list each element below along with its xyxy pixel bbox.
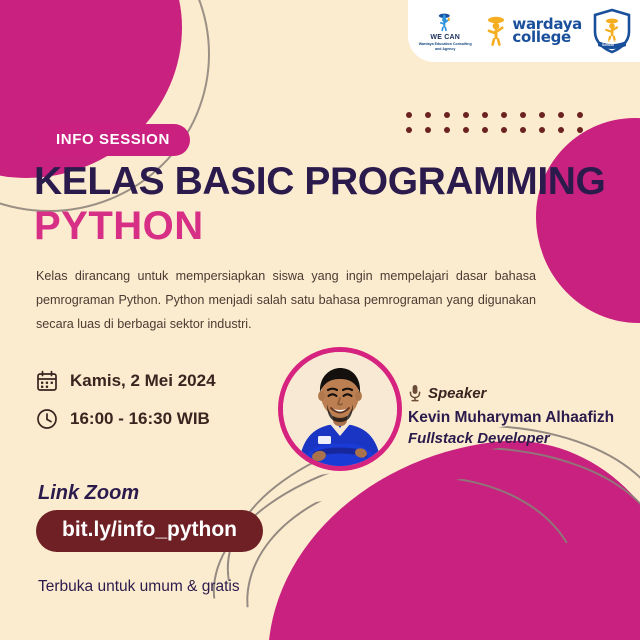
decorative-blob-right (536, 118, 640, 323)
wecan-logo-subtitle: Wardaya Education Consulting and Agency (416, 42, 474, 51)
speaker-info: Speaker Kevin Muharyman Alhaafizh Fullst… (408, 384, 614, 447)
page-subtitle: PYTHON (34, 204, 204, 249)
speaker-role: Fullstack Developer (408, 430, 614, 447)
logo-panel: WE CAN Wardaya Education Consulting and … (408, 0, 640, 62)
poster-canvas: WE CAN Wardaya Education Consulting and … (0, 0, 640, 640)
speaker-name: Kevin Muharyman Alhaafizh (408, 409, 614, 427)
speaker-heading: Speaker (408, 384, 614, 402)
schedule-time-text: 16:00 - 16:30 WIB (70, 409, 210, 429)
clock-icon (36, 408, 58, 430)
logo-wardaya-college: wardaya college (484, 15, 582, 47)
page-title: KELAS BASIC PROGRAMMING (34, 160, 605, 204)
speaker-heading-text: Speaker (428, 385, 486, 402)
calendar-icon (36, 370, 58, 392)
decorative-dot-grid (406, 112, 596, 142)
info-session-badge: INFO SESSION (36, 124, 190, 156)
schedule-date: Kamis, 2 Mei 2024 (36, 370, 216, 392)
wardaya-college-wordmark: wardaya college (512, 18, 582, 44)
wecan-student-icon (434, 11, 456, 33)
wardaya-person-icon (484, 15, 510, 47)
description-text: Kelas dirancang untuk mempersiapkan sisw… (36, 264, 536, 337)
schedule-time: 16:00 - 16:30 WIB (36, 408, 210, 430)
microphone-icon (408, 384, 422, 402)
schedule-date-text: Kamis, 2 Mei 2024 (70, 371, 216, 391)
logo-wardaya-school: Wardaya School (592, 8, 632, 54)
zoom-link-button[interactable]: bit.ly/info_python (36, 510, 263, 552)
wecan-logo-name: WE CAN (430, 34, 460, 41)
wardaya-school-banner-label: Wardaya School (602, 39, 622, 47)
speaker-portrait-illustration (283, 352, 397, 466)
zoom-link-label: Link Zoom (38, 482, 139, 505)
wardaya-wordmark-line2: college (512, 31, 582, 44)
logo-wecan: WE CAN Wardaya Education Consulting and … (416, 11, 474, 51)
footnote-text: Terbuka untuk umum & gratis (38, 578, 240, 596)
shield-icon (592, 8, 632, 54)
speaker-avatar (278, 347, 402, 471)
